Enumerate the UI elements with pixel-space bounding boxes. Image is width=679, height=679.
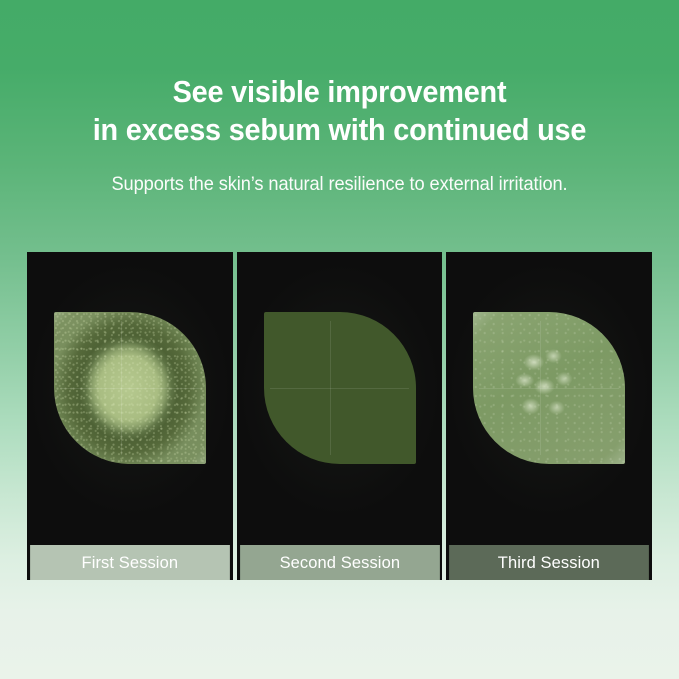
sebum-patch-specimen-first <box>54 312 206 464</box>
specimen-crease-horizontal <box>60 388 200 389</box>
specimen-crease-vertical <box>540 321 541 455</box>
session-panel-third: Third Session <box>446 252 652 580</box>
session-comparison-strip: First Session Second Session Third Sessi… <box>27 252 652 580</box>
session-caption-second: Second Session <box>240 545 440 580</box>
session-caption-first: First Session <box>30 545 230 580</box>
sebum-patch-specimen-second <box>264 312 416 464</box>
session-panel-first: First Session <box>27 252 233 580</box>
subtitle: Supports the skin’s natural resilience t… <box>14 173 666 197</box>
promotional-poster: See visible improvement in excess sebum … <box>0 0 679 679</box>
specimen-wrapper-third <box>473 312 625 464</box>
specimen-crease-horizontal <box>479 388 619 389</box>
session-caption-third: Third Session <box>449 545 649 580</box>
session-panel-second: Second Session <box>237 252 443 580</box>
specimen-wrapper-second <box>264 312 416 464</box>
specimen-wrapper-first <box>54 312 206 464</box>
header-block: See visible improvement in excess sebum … <box>0 0 679 197</box>
headline-line-2: in excess sebum with continued use <box>24 112 655 148</box>
headline-line-1: See visible improvement <box>24 74 655 110</box>
specimen-crease-horizontal <box>270 388 410 389</box>
sebum-patch-specimen-third <box>473 312 625 464</box>
specimen-crease-vertical <box>330 321 331 455</box>
specimen-crease-vertical <box>121 321 122 455</box>
